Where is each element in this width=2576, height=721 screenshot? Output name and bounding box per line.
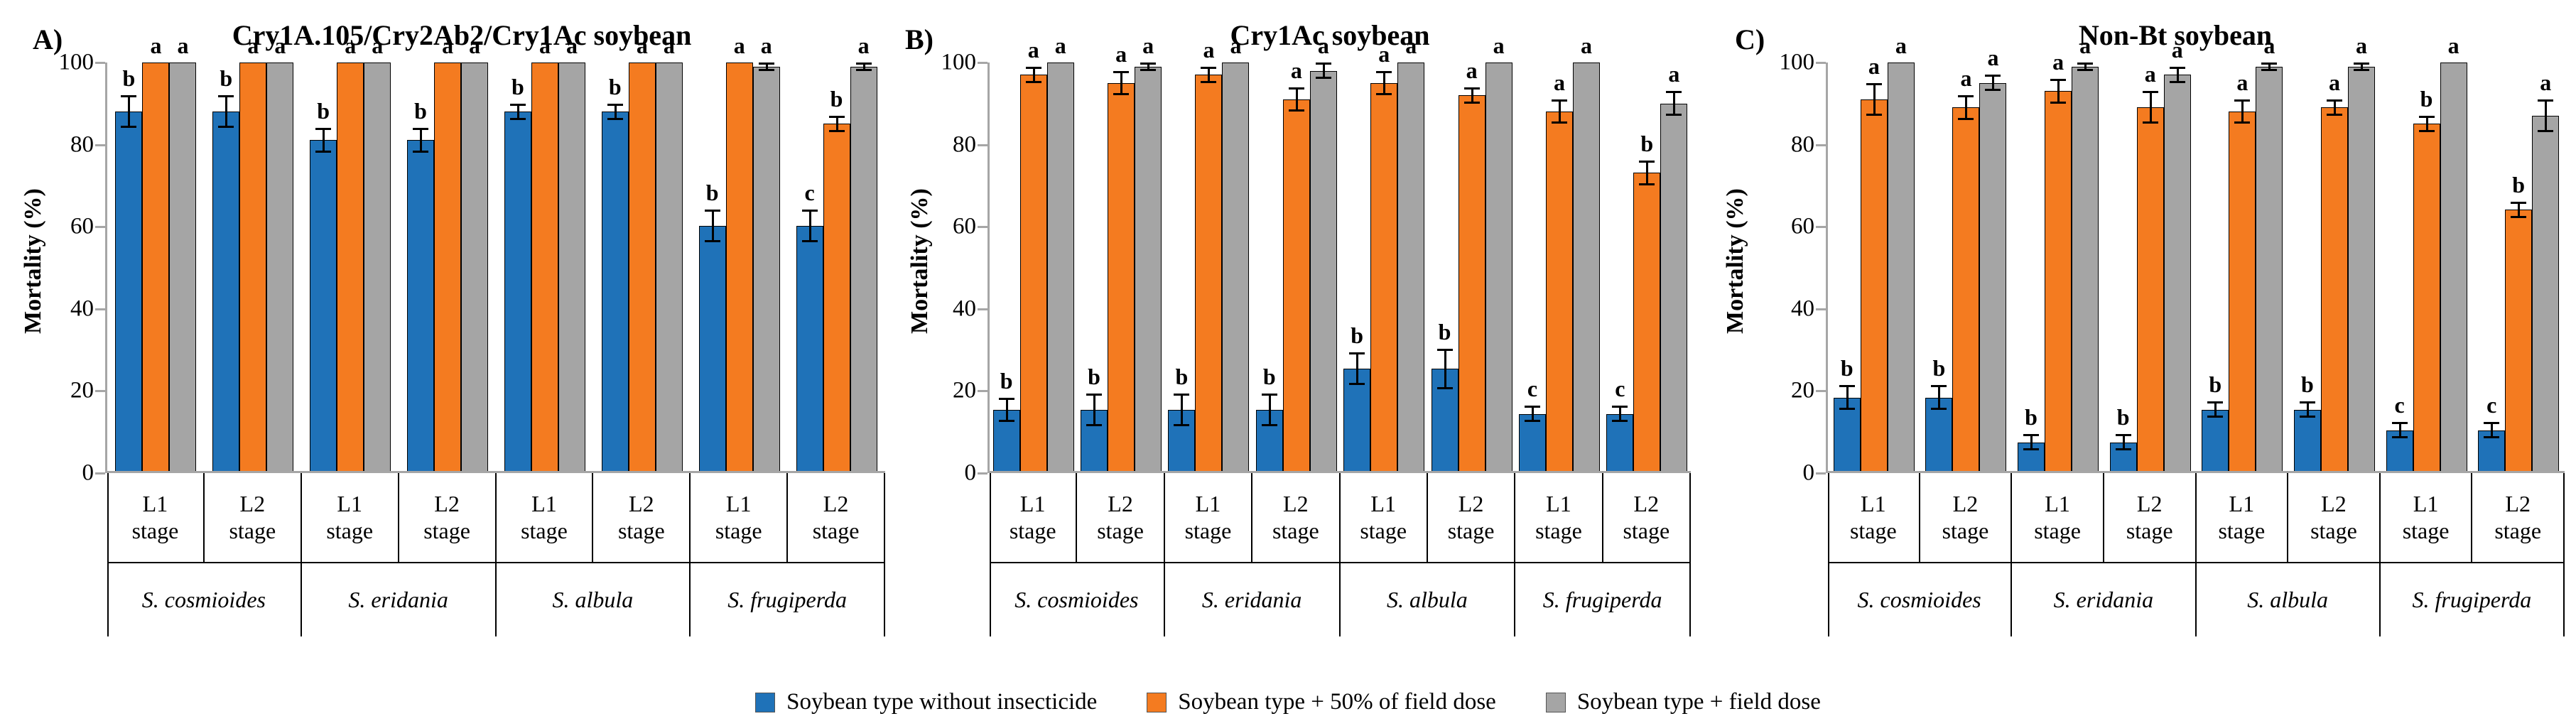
x-axis-stage-line: L2 [2505, 491, 2531, 518]
bar-slot: b [1432, 63, 1459, 471]
y-tick-label: 20 [70, 378, 94, 404]
bar-series-1 [2229, 112, 2256, 471]
bar-series-1 [1861, 99, 1888, 471]
y-tick-label: 0 [965, 460, 977, 487]
x-axis-stage-line: L1 [1020, 491, 1046, 518]
x-axis-species-cell: S. cosmioides [990, 563, 1165, 636]
y-tick-label: 80 [70, 131, 94, 158]
bar-group: baa [2288, 63, 2381, 471]
bar-slot: a [2532, 63, 2559, 471]
bar-slot: a [753, 63, 780, 471]
x-axis-stage-cell: L2stage [788, 473, 885, 562]
x-axis-species-cell: S. frugiperda [691, 563, 885, 636]
y-tick-label: 20 [953, 378, 976, 404]
significance-letter: c [1615, 377, 1625, 400]
error-bar [802, 210, 818, 242]
bar-slot: a [850, 63, 877, 471]
bar-slot: a [2229, 63, 2256, 471]
significance-letter: b [2025, 406, 2037, 428]
bar-series-1 [1020, 75, 1047, 471]
bar-container: baabaabaabaabaabaacbacba [1828, 63, 2565, 471]
significance-letter: a [1668, 63, 1679, 85]
x-axis-stage-line: L2 [823, 491, 849, 518]
panel-letter-c: C) [1735, 23, 1765, 56]
bar-slot: a [1222, 63, 1249, 471]
bar-slot: b [2110, 63, 2137, 471]
significance-letter: b [2301, 373, 2314, 396]
significance-letter: a [1055, 34, 1066, 57]
bar-group: baa [1828, 63, 1920, 471]
x-axis-stage-line: L2 [1459, 491, 1484, 518]
bar-series-1 [2137, 107, 2164, 471]
y-tick-label: 40 [1791, 296, 1814, 322]
bar-series-2 [1573, 63, 1600, 471]
y-tick-mark [978, 62, 987, 64]
bar-slot: a [726, 63, 753, 471]
significance-letter: b [609, 75, 622, 98]
x-axis-left-border [107, 473, 109, 636]
bar-series-2 [753, 67, 780, 471]
x-axis-stage-line: stage [1942, 518, 1989, 545]
significance-letter: a [761, 34, 772, 57]
bar-slot: a [1370, 63, 1397, 471]
bar-series-2 [2440, 63, 2467, 471]
error-bar [510, 104, 526, 120]
bar-group: baa [399, 63, 497, 471]
y-tick-mark [978, 390, 987, 392]
bar-series-0 [699, 226, 726, 471]
error-bar [1316, 63, 1331, 79]
bar-slot: b [993, 63, 1020, 471]
error-bar [2392, 422, 2408, 438]
plot-area-c: 020406080100baabaabaabaabaabaacbacba [1826, 63, 2565, 473]
x-axis-stage-cell: L1stage [1828, 473, 1920, 562]
significance-letter: b [1640, 132, 1653, 155]
bar-series-1 [823, 124, 850, 471]
bar-series-1 [2321, 107, 2348, 471]
bar-slot: a [434, 63, 461, 471]
y-tick-label: 20 [1791, 378, 1814, 404]
bar-slot: b [1168, 63, 1195, 471]
x-axis-species-row: S. cosmioidesS. eridaniaS. albulaS. frug… [107, 562, 885, 636]
significance-letter: a [1230, 34, 1241, 57]
x-axis-stage-line: L1 [2045, 491, 2070, 518]
bar-slot: a [337, 63, 364, 471]
x-axis-stage-cell: L1stage [1515, 473, 1603, 562]
x-axis-species-cell: S. eridania [302, 563, 497, 636]
significance-letter: a [1554, 71, 1565, 94]
bar-slot: b [699, 63, 726, 471]
bar-series-0 [602, 112, 629, 471]
bar-series-2 [2164, 75, 2191, 471]
bar-series-1 [434, 63, 461, 471]
x-axis-stage-line: stage [618, 518, 665, 545]
bar-series-2 [364, 63, 391, 471]
x-axis-species-cell: S. albula [497, 563, 691, 636]
y-tick-label: 0 [82, 460, 94, 487]
bar-container: baabaabaabaabaabaabaacba [107, 63, 885, 471]
significance-letter: a [345, 34, 356, 57]
error-bar [2419, 116, 2435, 132]
bar-slot: b [2505, 63, 2532, 471]
bar-series-1 [239, 63, 266, 471]
panel-row: A)Cry1A.105/Cry2Ab2/Cry1Ac soybeanMortal… [0, 0, 2576, 643]
significance-letter: a [1466, 59, 1478, 82]
error-bar [1931, 385, 1947, 410]
significance-letter: a [177, 34, 188, 57]
x-axis-stage-cell: L2stage [593, 473, 691, 562]
bar-series-1 [1633, 173, 1660, 471]
significance-letter: a [1028, 38, 1039, 61]
bar-series-2 [1888, 63, 1915, 471]
significance-letter: b [1000, 369, 1013, 392]
bar-slot: c [2386, 63, 2413, 471]
significance-letter: b [1933, 357, 1946, 379]
bar-series-2 [850, 67, 877, 471]
significance-letter: a [1960, 67, 1971, 90]
y-tick-mark [95, 308, 105, 310]
mortality-figure: A)Cry1A.105/Cry2Ab2/Cry1Ac soybeanMortal… [0, 0, 2576, 721]
error-bar [1174, 394, 1189, 426]
x-axis-stage-cell: L1stage [2197, 473, 2289, 562]
bar-series-2 [1047, 63, 1074, 471]
error-bar [1612, 406, 1628, 422]
significance-letter: a [2263, 34, 2275, 57]
bar-group: baa [1920, 63, 2013, 471]
error-bar [1201, 67, 1216, 83]
x-axis-stage-line: L2 [1634, 491, 1660, 518]
x-axis-stage-cell: L2stage [2288, 473, 2381, 562]
x-axis-stage-cell: L2stage [1252, 473, 1340, 562]
bar-slot: a [1459, 63, 1485, 471]
bar-slot: a [1135, 63, 1162, 471]
bar-group: cba [1603, 63, 1691, 471]
plot-area-a: 020406080100baabaabaabaabaabaabaacba [105, 63, 885, 473]
bar-group: baa [691, 63, 788, 471]
bar-slot: c [1519, 63, 1546, 471]
bar-slot: a [1888, 63, 1915, 471]
x-axis-stage-line: stage [326, 518, 373, 545]
y-tick-mark [1816, 390, 1826, 392]
error-bar [2261, 63, 2277, 71]
x-axis-left-border [1828, 473, 1829, 636]
significance-letter: c [2486, 394, 2496, 416]
panel-b: B)Cry1Ac soybeanMortality (%)02040608010… [897, 0, 1706, 643]
x-axis-stage-cell: L2stage [1428, 473, 1515, 562]
bar-group: baa [990, 63, 1077, 471]
bar-series-2 [2072, 67, 2099, 471]
legend-half-dose[interactable]: Soybean type + 50% of field dose [1147, 689, 1496, 715]
bar-slot: a [1952, 63, 1979, 471]
error-bar [2327, 99, 2342, 116]
significance-letter: a [469, 34, 480, 57]
bar-slot: a [266, 63, 293, 471]
error-bar [1026, 67, 1041, 83]
bar-series-0 [407, 140, 434, 471]
significance-letter: a [539, 34, 551, 57]
y-tick-mark [978, 472, 987, 475]
legend-no-insecticide[interactable]: Soybean type without insecticide [755, 689, 1097, 715]
bar-series-1 [726, 63, 753, 471]
significance-letter: a [1868, 55, 1880, 77]
y-tick-mark [1816, 226, 1826, 228]
bar-series-1 [2045, 91, 2072, 471]
y-axis-title-c: Mortality (%) [1722, 188, 1749, 334]
bar-slot: a [2137, 63, 2164, 471]
x-axis-stage-cell: L2stage [205, 473, 302, 562]
bar-slot: b [1256, 63, 1283, 471]
error-bar [1958, 95, 1974, 120]
significance-letter: a [2448, 34, 2459, 57]
y-tick-label: 60 [1791, 214, 1814, 240]
bar-slot: b [1343, 63, 1370, 471]
bar-slot: b [212, 63, 239, 471]
error-bar [2207, 401, 2223, 418]
y-tick-label: 60 [953, 214, 976, 240]
x-axis-stage-cell: L1stage [990, 473, 1077, 562]
bar-series-1 [2505, 210, 2532, 471]
x-axis-stage-line: L1 [2229, 491, 2255, 518]
error-bar [1140, 63, 1156, 71]
bar-group: cba [788, 63, 885, 471]
bar-series-0 [1606, 414, 1633, 472]
legend-label: Soybean type + 50% of field dose [1178, 689, 1496, 715]
error-bar [1666, 91, 1682, 116]
bar-container: baabaabaabaabaabaacaacba [990, 63, 1691, 471]
x-axis-stage-line: L2 [2137, 491, 2163, 518]
x-axis-stage-line: stage [423, 518, 470, 545]
significance-letter: a [2172, 38, 2183, 61]
bar-slot: a [656, 63, 683, 471]
bar-series-1 [337, 63, 364, 471]
y-tick-mark [978, 144, 987, 146]
bar-slot: a [531, 63, 558, 471]
bar-series-1 [1459, 95, 1485, 471]
bar-series-1 [1546, 112, 1573, 471]
x-axis-stage-line: stage [2494, 518, 2541, 545]
significance-letter: a [150, 34, 161, 57]
x-axis-stage-cell: L1stage [302, 473, 399, 562]
bar-series-2 [169, 63, 196, 471]
bar-series-1 [2413, 124, 2440, 471]
legend-label: Soybean type + field dose [1577, 689, 1821, 715]
significance-letter: a [274, 34, 286, 57]
bar-slot: a [1979, 63, 2006, 471]
legend-label: Soybean type without insecticide [786, 689, 1097, 715]
error-bar [1639, 161, 1655, 185]
significance-letter: a [664, 34, 675, 57]
significance-letter: b [2512, 173, 2525, 196]
significance-letter: c [1527, 377, 1537, 400]
x-axis-table-b: L1stageL2stageL1stageL2stageL1stageL2sta… [990, 473, 1691, 636]
x-axis-species-cell: S. albula [1341, 563, 1516, 636]
x-axis-species-cell: S. eridania [1165, 563, 1341, 636]
y-tick-mark [1816, 472, 1826, 475]
bar-group: baa [302, 63, 399, 471]
bar-series-0 [2294, 410, 2321, 471]
bar-group: cba [2381, 63, 2473, 471]
bar-slot: b [407, 63, 434, 471]
x-axis-species-cell: S. albula [2197, 563, 2381, 636]
x-axis-stage-row: L1stageL2stageL1stageL2stageL1stageL2sta… [107, 473, 885, 562]
x-axis-stage-line: L2 [240, 491, 266, 518]
error-bar [856, 63, 872, 71]
error-bar [759, 63, 774, 71]
x-axis-stage-cell: L1stage [691, 473, 788, 562]
x-axis-stage-line: L1 [2413, 491, 2439, 518]
bar-series-2 [1222, 63, 1249, 471]
bar-slot: b [1834, 63, 1861, 471]
significance-letter: a [442, 34, 453, 57]
bar-slot: c [1606, 63, 1633, 471]
error-bar [2234, 99, 2250, 124]
y-axis-title-b: Mortality (%) [907, 188, 933, 334]
bar-slot: a [2440, 63, 2467, 471]
bar-slot: a [169, 63, 196, 471]
legend-swatch-icon [755, 693, 775, 712]
bar-series-1 [1370, 83, 1397, 471]
bar-group: baa [107, 63, 205, 471]
bar-slot: a [1397, 63, 1424, 471]
error-bar [1376, 71, 1392, 96]
y-axis-title-a: Mortality (%) [20, 188, 47, 334]
bar-slot: b [2018, 63, 2045, 471]
bar-series-1 [531, 63, 558, 471]
error-bar [413, 128, 428, 153]
significance-letter: b [1351, 324, 1363, 347]
error-bar [1262, 394, 1277, 426]
bar-slot: a [2321, 63, 2348, 471]
bar-slot: b [2413, 63, 2440, 471]
bar-group: baa [1341, 63, 1428, 471]
bar-slot: a [1283, 63, 1310, 471]
bar-series-2 [2532, 116, 2559, 471]
y-tick-label: 60 [70, 214, 94, 240]
bar-slot: c [796, 63, 823, 471]
bar-slot: b [823, 63, 850, 471]
significance-letter: a [2329, 71, 2340, 94]
significance-letter: b [2209, 373, 2221, 396]
bar-slot: a [1310, 63, 1337, 471]
x-axis-stage-cell: L1stage [497, 473, 594, 562]
legend-field-dose[interactable]: Soybean type + field dose [1546, 689, 1821, 715]
x-axis-stage-line: L2 [434, 491, 460, 518]
significance-letter: b [123, 67, 136, 90]
x-axis-stage-line: stage [2310, 518, 2357, 545]
x-axis-stage-cell: L2stage [1920, 473, 2013, 562]
bar-slot: b [2294, 63, 2321, 471]
bar-group: baa [1165, 63, 1252, 471]
significance-letter: a [1318, 34, 1329, 57]
significance-letter: b [220, 67, 232, 90]
x-axis-species-cell: S. cosmioides [1828, 563, 2012, 636]
bar-series-2 [1397, 63, 1424, 471]
x-axis-table-a: L1stageL2stageL1stageL2stageL1stageL2sta… [107, 473, 885, 636]
bar-slot: a [1195, 63, 1222, 471]
bar-series-0 [1519, 414, 1546, 472]
bar-slot: a [239, 63, 266, 471]
bar-slot: b [504, 63, 531, 471]
x-axis-stage-line: stage [1272, 518, 1319, 545]
error-bar [121, 95, 136, 128]
bar-series-2 [461, 63, 488, 471]
bar-series-2 [1310, 71, 1337, 472]
bar-group: baa [497, 63, 594, 471]
bar-slot: a [1485, 63, 1512, 471]
x-axis-species-row: S. cosmioidesS. eridaniaS. albulaS. frug… [990, 562, 1691, 636]
bar-slot: b [1633, 63, 1660, 471]
error-bar [2143, 91, 2158, 124]
error-bar [1086, 394, 1102, 426]
error-bar [218, 95, 234, 128]
bar-slot: a [142, 63, 169, 471]
y-tick-label: 40 [953, 296, 976, 322]
error-bar [1839, 385, 1855, 410]
bar-slot: a [2256, 63, 2283, 471]
x-axis-stage-line: L2 [1283, 491, 1309, 518]
significance-letter: a [2052, 50, 2064, 73]
bar-slot: a [1660, 63, 1687, 471]
x-axis-stage-line: L1 [531, 491, 557, 518]
significance-letter: a [2356, 34, 2367, 57]
bar-series-0 [212, 112, 239, 471]
significance-letter: b [1176, 365, 1189, 388]
significance-letter: a [1115, 43, 1127, 65]
x-axis-stage-cell: L1stage [1165, 473, 1252, 562]
x-axis-species-cell: S. frugiperda [2381, 563, 2565, 636]
x-axis-stage-line: stage [1850, 518, 1897, 545]
panel-c: C)Non-Bt soybeanMortality (%)02040608010… [1706, 0, 2576, 643]
significance-letter: a [1378, 43, 1390, 65]
y-tick-mark [95, 144, 105, 146]
x-axis-stage-line: L1 [1370, 491, 1396, 518]
bar-group: baa [593, 63, 691, 471]
bar-series-1 [629, 63, 656, 471]
x-axis-stage-line: L1 [337, 491, 362, 518]
bar-slot: a [1020, 63, 1047, 471]
error-bar [1985, 75, 2001, 91]
figure-legend: Soybean type without insecticideSoybean … [0, 689, 2576, 715]
significance-letter: b [1263, 365, 1276, 388]
bar-slot: c [2478, 63, 2505, 471]
x-axis-stage-cell: L2stage [1077, 473, 1164, 562]
x-axis-stage-line: stage [1535, 518, 1582, 545]
x-axis-stage-line: L2 [2321, 491, 2347, 518]
significance-letter: a [1291, 59, 1302, 82]
significance-letter: b [512, 75, 524, 98]
error-bar [1113, 71, 1129, 96]
bar-slot: b [310, 63, 337, 471]
significance-letter: a [2079, 34, 2091, 57]
error-bar [999, 398, 1014, 423]
bar-series-2 [2256, 67, 2283, 471]
significance-letter: b [1439, 320, 1451, 343]
bar-series-2 [1660, 104, 1687, 472]
error-bar [1552, 99, 1567, 124]
y-tick-label: 80 [1791, 131, 1814, 158]
panel-letter-b: B) [905, 23, 933, 56]
bar-group: baa [2197, 63, 2289, 471]
bar-series-1 [1283, 99, 1310, 471]
bar-series-1 [1108, 83, 1135, 471]
bar-group: baa [1252, 63, 1340, 471]
y-tick-label: 0 [1803, 460, 1815, 487]
bar-slot: a [364, 63, 391, 471]
bar-slot: b [2202, 63, 2229, 471]
y-tick-mark [978, 226, 987, 228]
x-axis-stage-line: L1 [1196, 491, 1221, 518]
x-axis-stage-line: L1 [726, 491, 752, 518]
